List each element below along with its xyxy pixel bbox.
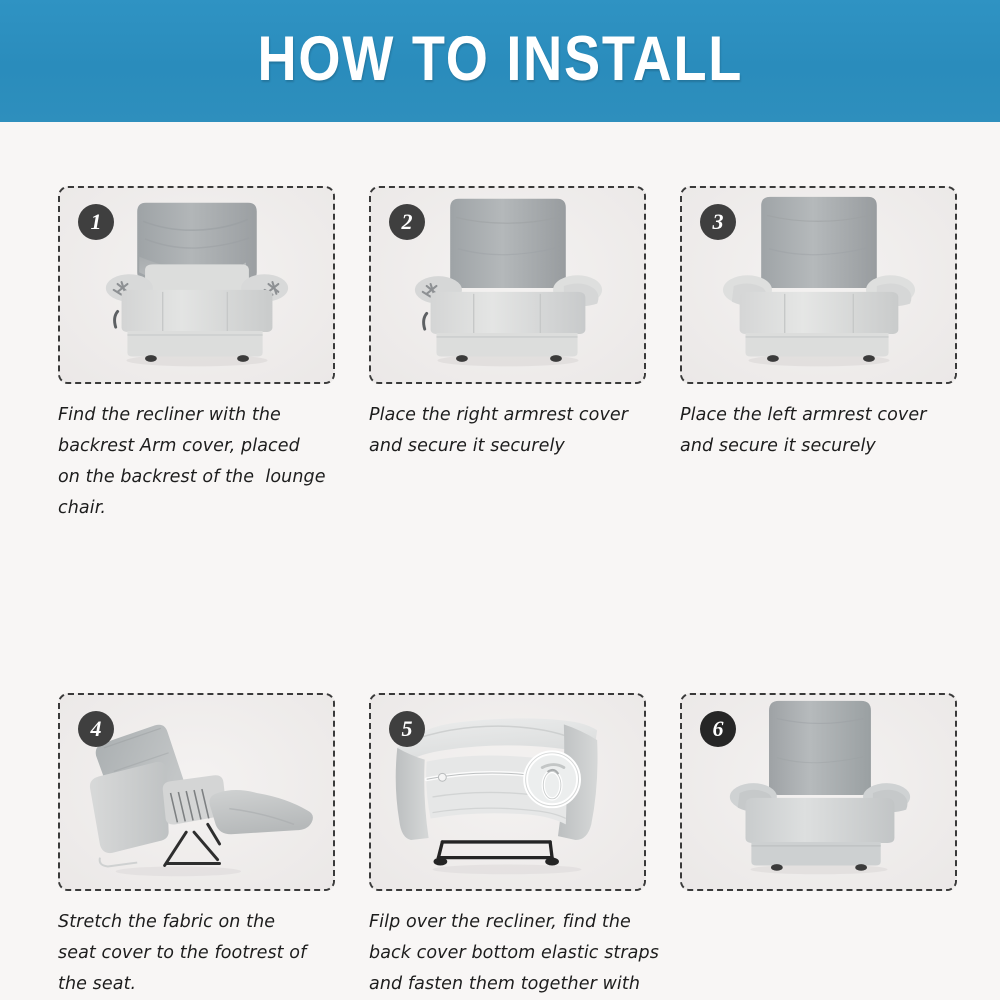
step-number-badge-6: 6 [700, 711, 736, 747]
steps-row-2: 4 Stretch the fabric on the seat cover t… [58, 693, 958, 1000]
step-number-badge-1: 1 [78, 204, 114, 240]
step-caption-5: Filp over the recliner, find the back co… [369, 907, 681, 1000]
step-card-1: 1 Find the recliner with the backrest Ar… [58, 186, 335, 525]
step-card-4: 4 Stretch the fabric on the seat cover t… [58, 693, 335, 1000]
step-number-badge-2: 2 [389, 204, 425, 240]
page-header-banner: HOW TO INSTALL [0, 0, 1000, 122]
steps-row-1: 1 Find the recliner with the backrest Ar… [58, 186, 958, 525]
step-card-6: 6 [680, 693, 957, 1000]
step-image-frame-5: 5 [369, 693, 646, 891]
step-image-frame-2: 2 [369, 186, 646, 384]
step-image-frame-1: 1 [58, 186, 335, 384]
steps-grid: 1 Find the recliner with the backrest Ar… [58, 186, 958, 1000]
step-number-badge-5: 5 [389, 711, 425, 747]
step-caption-1: Find the recliner with the backrest Arm … [58, 400, 358, 525]
step-number-badge-3: 3 [700, 204, 736, 240]
step-card-5: 5 Filp over the recliner, find the back … [369, 693, 646, 1000]
step-card-2: 2 Place the right armrest cover and secu… [369, 186, 646, 525]
step-caption-2: Place the right armrest cover and secure… [369, 400, 669, 462]
step-caption-4: Stretch the fabric on the seat cover to … [58, 907, 358, 1000]
page-title: HOW TO INSTALL [257, 28, 743, 95]
step-card-3: 3 Place the left armrest cover and secur… [680, 186, 957, 525]
step-image-frame-4: 4 [58, 693, 335, 891]
step-caption-3: Place the left armrest cover and secure … [680, 400, 980, 462]
step-number-badge-4: 4 [78, 711, 114, 747]
step-image-frame-6: 6 [680, 693, 957, 891]
step-image-frame-3: 3 [680, 186, 957, 384]
how-to-install-page: HOW TO INSTALL [0, 0, 1000, 1000]
